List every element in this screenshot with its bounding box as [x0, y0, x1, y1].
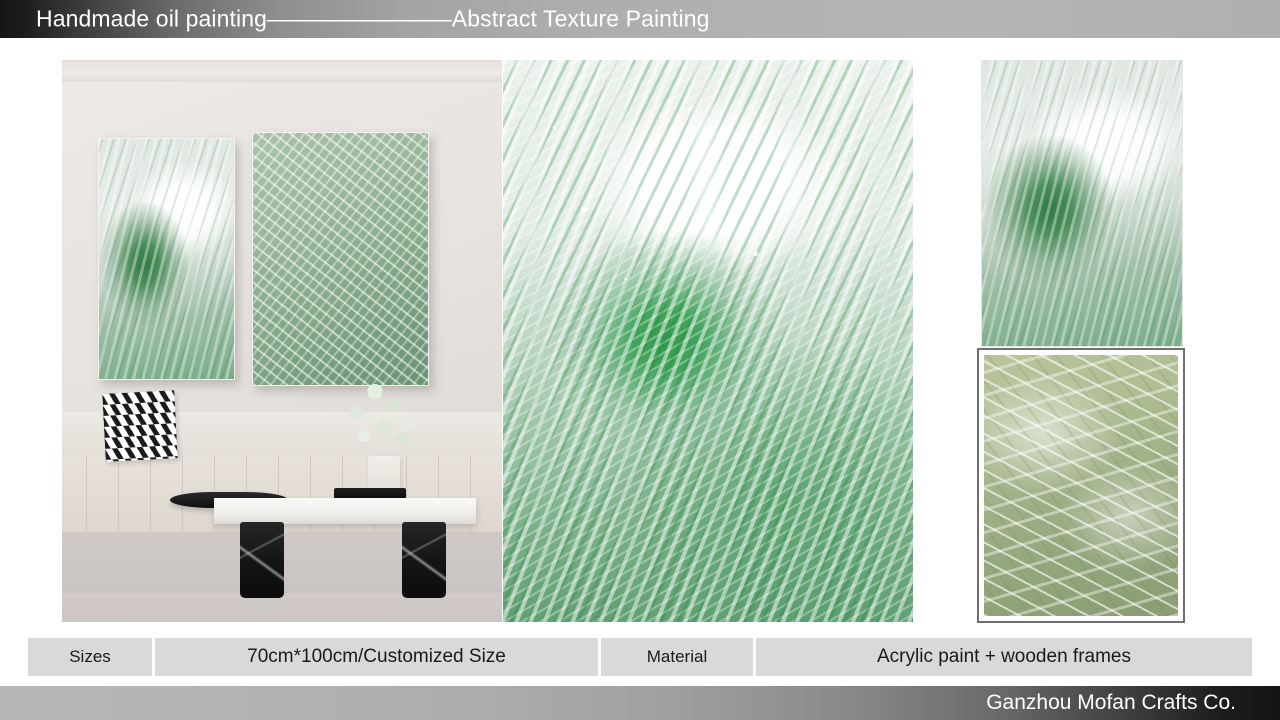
footer-bar: Ganzhou Mofan Crafts Co.: [0, 686, 1280, 720]
spec-label-sizes: Sizes: [28, 638, 152, 676]
table-base-left: [240, 522, 284, 598]
product-gallery: [0, 38, 1280, 630]
spec-label-material: Material: [601, 638, 753, 676]
specification-table: Sizes 70cm*100cm/Customized Size Materia…: [28, 638, 1252, 676]
framed-olive-abstract[interactable]: [977, 348, 1185, 623]
spec-value-sizes: 70cm*100cm/Customized Size: [155, 638, 598, 676]
wave-artwork-detail: [982, 61, 1182, 346]
chevron-pillow: [102, 390, 177, 462]
eucalyptus-plant: [340, 378, 432, 464]
company-name: Ganzhou Mofan Crafts Co.: [986, 691, 1236, 715]
header-bar: Handmade oil painting————————Abstract Te…: [0, 0, 1280, 38]
wall-canvas-sea: [252, 132, 429, 386]
page-title: Handmade oil painting————————Abstract Te…: [36, 6, 710, 33]
wall-canvas-wave: [98, 138, 235, 380]
wave-artwork: [99, 139, 234, 379]
living-room-scene[interactable]: [62, 60, 502, 622]
wave-spray: [519, 71, 814, 386]
wave-painting-detail[interactable]: [981, 60, 1183, 347]
large-wave-closeup[interactable]: [503, 60, 913, 622]
spec-value-material: Acrylic paint + wooden frames: [756, 638, 1252, 676]
table-base-right: [402, 522, 446, 598]
marble-coffee-table: [214, 498, 476, 524]
ceiling-cornice: [62, 60, 502, 82]
sea-artwork: [253, 133, 428, 385]
olive-abstract-artwork: [984, 355, 1178, 616]
